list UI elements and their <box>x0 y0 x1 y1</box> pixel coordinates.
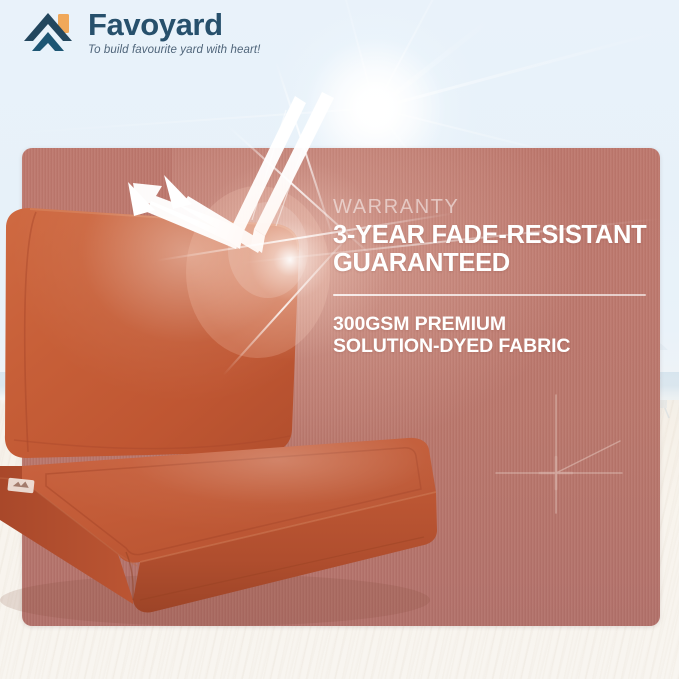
warranty-kicker: WARRANTY <box>333 196 653 219</box>
fabric-subhead: 300GSM PREMIUM SOLUTION-DYED FABRIC <box>333 313 653 358</box>
product-marketing-image: Favoyard To build favourite yard with he… <box>0 0 679 679</box>
warranty-headline: 3-YEAR FADE-RESISTANT GUARANTEED <box>333 221 653 277</box>
copy-divider <box>333 294 646 296</box>
subhead-line-2: SOLUTION-DYED FABRIC <box>333 335 570 357</box>
subhead-line-1: 300GSM PREMIUM <box>333 313 506 335</box>
headline-line-1: 3-YEAR FADE-RESISTANT <box>333 221 646 249</box>
warranty-copy-block: WARRANTY 3-YEAR FADE-RESISTANT GUARANTEE… <box>333 196 653 358</box>
headline-line-2: GUARANTEED <box>333 249 510 277</box>
